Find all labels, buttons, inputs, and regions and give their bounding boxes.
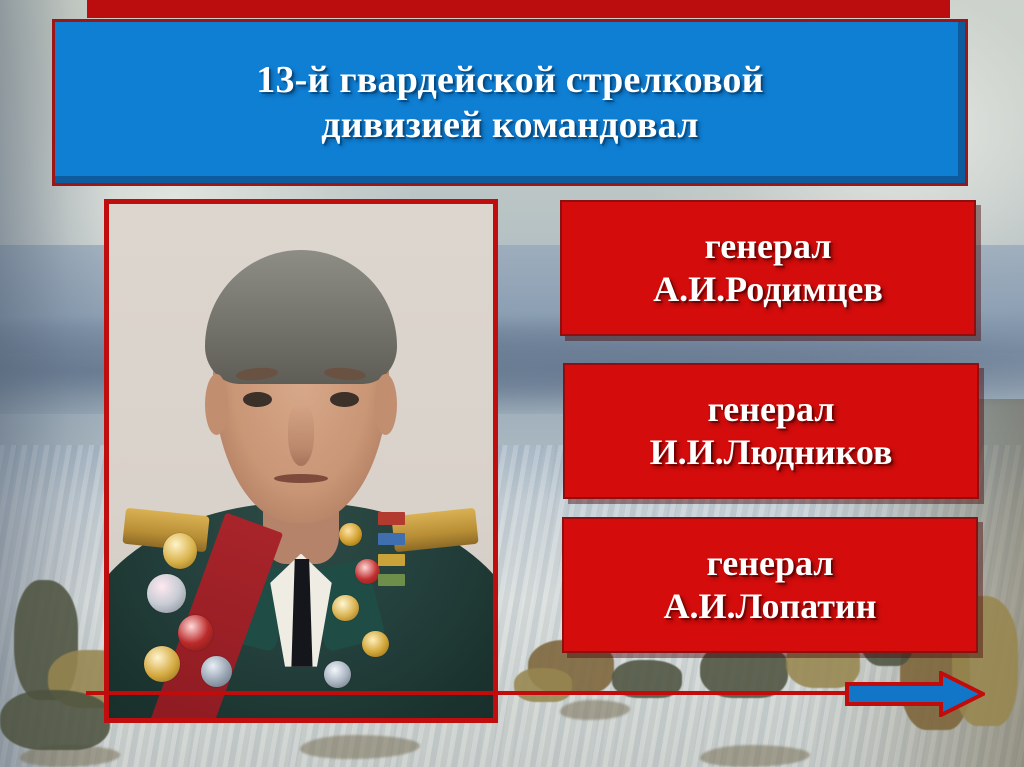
portrait-image xyxy=(109,204,493,718)
answer-option-3-line-2: А.И.Лопатин xyxy=(664,585,877,628)
answer-option-2-text: генерал И.И.Людников xyxy=(636,388,907,474)
answer-option-2-line-1: генерал xyxy=(650,388,893,431)
portrait-medal xyxy=(144,646,180,682)
portrait-eye-left xyxy=(243,392,272,407)
title-line-2: дивизией командовал xyxy=(256,103,763,148)
portrait-mouth xyxy=(274,474,328,483)
portrait-medal xyxy=(147,574,185,613)
answer-option-3-text: генерал А.И.Лопатин xyxy=(650,542,891,628)
portrait-medal xyxy=(163,533,198,569)
portrait-ribbon-bar xyxy=(378,512,405,524)
connector-line xyxy=(86,691,876,695)
slide-canvas: 13-й гвардейской стрелковой дивизией ком… xyxy=(0,0,1024,767)
answer-option-3-line-1: генерал xyxy=(664,542,877,585)
portrait-hair xyxy=(205,250,397,384)
top-red-band xyxy=(87,0,950,18)
title-line-1: 13-й гвардейской стрелковой xyxy=(256,58,763,103)
answer-option-2-line-2: И.И.Людников xyxy=(650,431,893,474)
portrait-ear-left xyxy=(205,374,228,436)
answer-option-3[interactable]: генерал А.И.Лопатин xyxy=(562,517,978,653)
answer-option-1[interactable]: генерал А.И.Родимцев xyxy=(560,200,976,336)
answer-option-1-line-1: генерал xyxy=(653,225,883,268)
portrait-frame xyxy=(104,199,498,723)
portrait-ribbon-bar xyxy=(378,533,405,545)
portrait-tie xyxy=(291,559,312,667)
portrait-ear-right xyxy=(374,374,397,436)
background-soldier xyxy=(0,690,110,750)
portrait-medal xyxy=(332,595,359,622)
background-soldier xyxy=(514,668,572,702)
portrait-ribbon-bar xyxy=(378,574,405,586)
title-plaque: 13-й гвардейской стрелковой дивизией ком… xyxy=(52,19,968,186)
portrait-medal xyxy=(355,559,380,585)
portrait-eye-right xyxy=(330,392,359,407)
portrait-medal xyxy=(324,661,351,688)
next-arrow-icon[interactable] xyxy=(845,671,985,717)
portrait-ribbon-bar xyxy=(378,554,405,566)
page-title: 13-й гвардейской стрелковой дивизией ком… xyxy=(238,58,781,148)
portrait-medal xyxy=(178,615,213,651)
portrait-medal xyxy=(201,656,232,687)
answer-option-1-line-2: А.И.Родимцев xyxy=(653,268,883,311)
portrait-epaulet-right xyxy=(392,508,480,553)
answer-option-1-text: генерал А.И.Родимцев xyxy=(639,225,897,311)
answer-option-2[interactable]: генерал И.И.Людников xyxy=(563,363,979,499)
